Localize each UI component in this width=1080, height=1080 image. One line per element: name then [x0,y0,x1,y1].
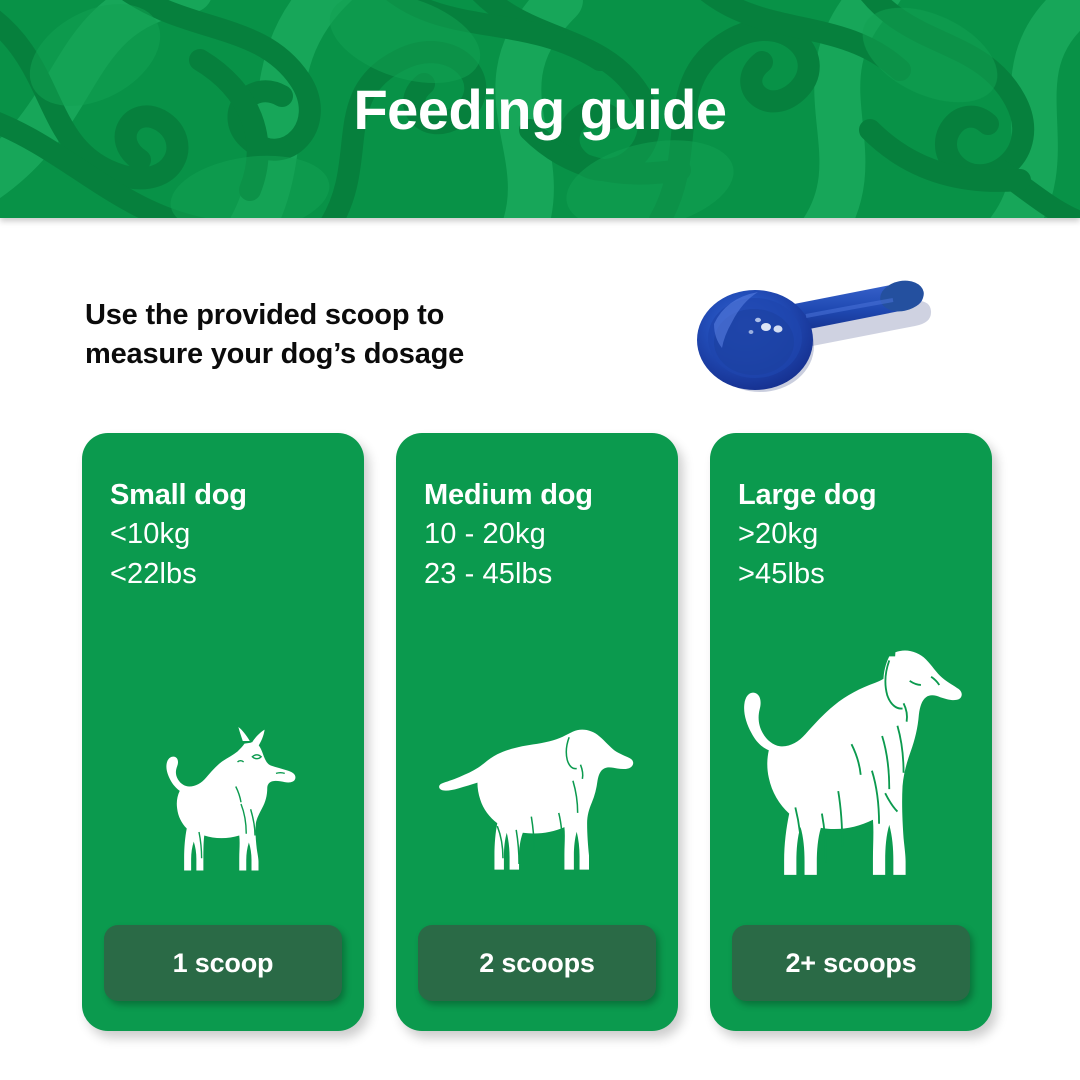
feeding-guide-infographic: Feeding guide Use the provided scoop to … [0,0,1080,1080]
dog-illustration-slot [710,593,992,883]
blue-scoop-icon [688,272,938,402]
measuring-scoop-image [688,272,938,402]
scoop-amount-button[interactable]: 2 scoops [418,925,656,1001]
dog-size-cards: Small dog <10kg <22lbs [0,433,1080,1033]
instruction-line-1: Use the provided scoop to [85,296,645,335]
weight-lbs: 23 - 45lbs [424,555,662,595]
chihuahua-silhouette-icon [136,725,311,883]
labrador-silhouette-icon [433,722,641,883]
page-title: Feeding guide [0,0,1080,218]
pointer-silhouette-icon [734,638,969,883]
card-medium-dog-header: Medium dog 10 - 20kg 23 - 45lbs [424,478,662,595]
card-small-dog[interactable]: Small dog <10kg <22lbs [82,433,364,1031]
weight-kg: >20kg [738,515,976,555]
weight-lbs: >45lbs [738,555,976,595]
card-medium-dog[interactable]: Medium dog 10 - 20kg 23 - 45lbs [396,433,678,1031]
scoop-amount-button[interactable]: 1 scoop [104,925,342,1001]
card-large-dog-header: Large dog >20kg >45lbs [738,478,976,595]
weight-kg: <10kg [110,515,348,555]
instruction-text: Use the provided scoop to measure your d… [85,296,645,373]
card-title: Large dog [738,478,976,512]
weight-kg: 10 - 20kg [424,515,662,555]
card-title: Medium dog [424,478,662,512]
card-large-dog[interactable]: Large dog >20kg >45lbs [710,433,992,1031]
dog-illustration-slot [82,633,364,883]
instruction-line-2: measure your dog’s dosage [85,335,645,374]
weight-lbs: <22lbs [110,555,348,595]
header-banner: Feeding guide [0,0,1080,218]
dog-illustration-slot [396,633,678,883]
scoop-amount-button[interactable]: 2+ scoops [732,925,970,1001]
card-small-dog-header: Small dog <10kg <22lbs [110,478,348,595]
card-title: Small dog [110,478,348,512]
